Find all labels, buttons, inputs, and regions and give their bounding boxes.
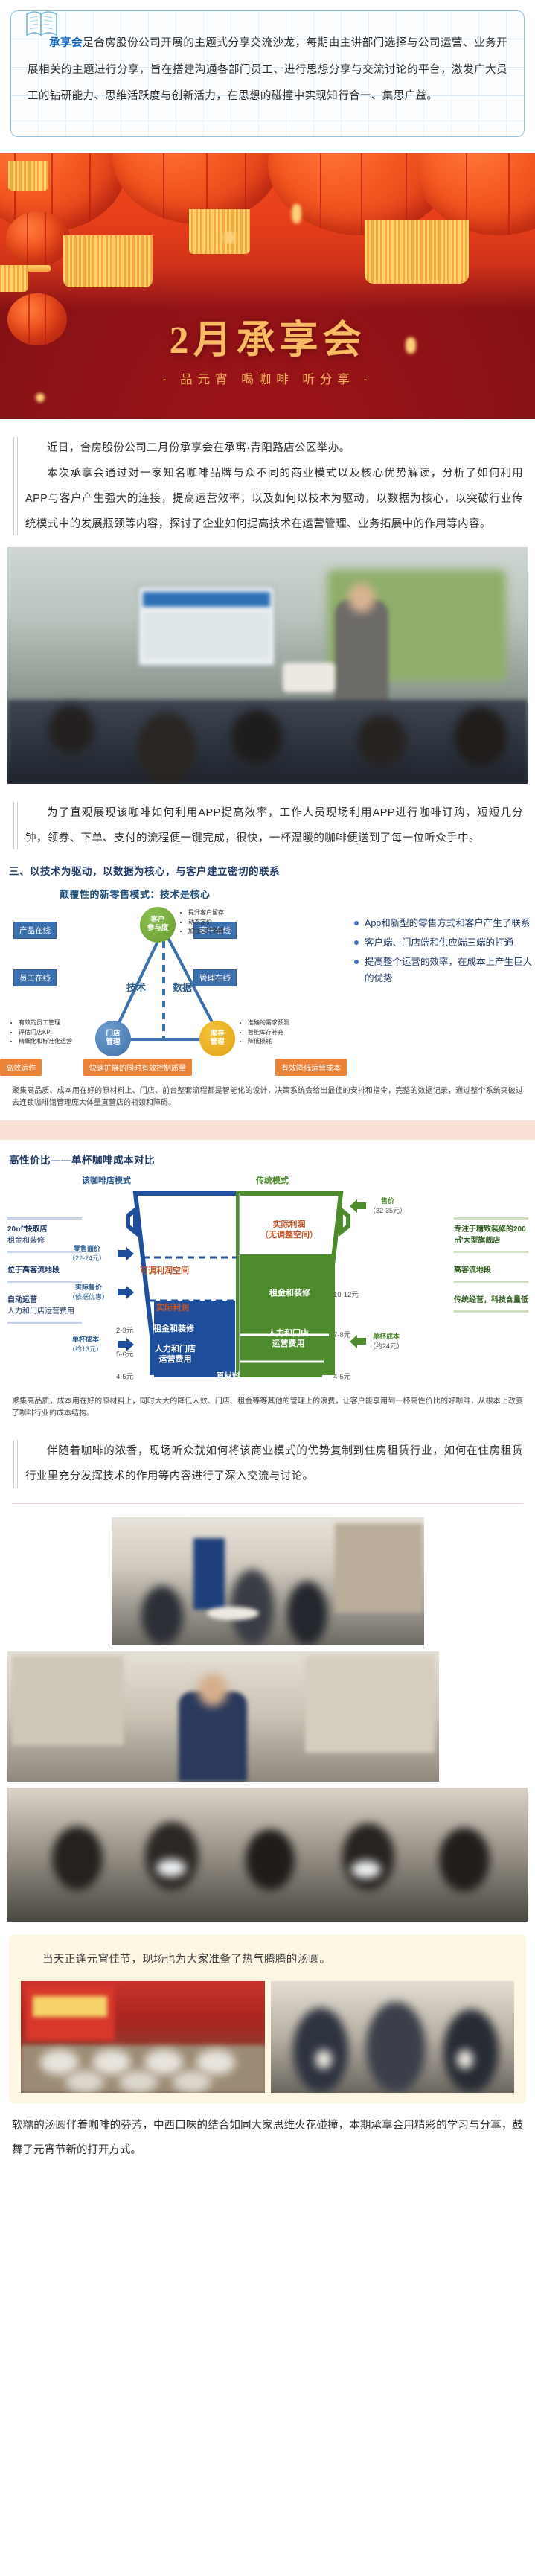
side-card-right: 专注于精致装修的200㎡'大型旗舰店 高客流地段 传统经营，科技含量低 xyxy=(454,1217,528,1313)
box-management-online: 管理在线 xyxy=(193,969,237,986)
arrow-green-1 xyxy=(350,1199,366,1213)
note-unit-cost-left: 单杯成本 （约13元） xyxy=(68,1335,103,1354)
photo-person-1 xyxy=(141,1586,183,1645)
photo-head-3 xyxy=(231,710,283,765)
photo-person-z xyxy=(443,2009,499,2093)
tick-left-material: 4-5元 xyxy=(116,1371,133,1381)
side-left-sub-3: 人力和门店运营费用 xyxy=(7,1307,74,1316)
section1-text-block: 近日，合房股份公司二月份承享会在承寓·青阳路店公区举办。 本次承享会通过对一家知… xyxy=(12,436,523,537)
slide-cost-comparison: 高性价比——单杯咖啡成本对比 该咖啡店模式 传统模式 可调利润空间 实际利润 租… xyxy=(7,1152,528,1419)
intro-card: 承享会是合房股份公司开展的主题式分享交流沙龙，每期由主讲部门选择与公司运营、业务… xyxy=(10,10,525,137)
list-item: App和新型的零售方式和客户产生了联系 xyxy=(354,916,535,932)
tag-lower-cost: 有效降低运营成本 xyxy=(275,1059,347,1076)
photo-bowl-3 xyxy=(144,2050,183,2075)
photo-head-e xyxy=(439,1828,490,1892)
photo-bowl-4 xyxy=(196,2050,235,2075)
note-value: （32-35元） xyxy=(369,1207,406,1214)
box-product-online: 产品在线 xyxy=(13,922,57,939)
tassel-3 xyxy=(63,235,153,287)
side-card-left: 20㎡'快取店 租金和装修 位于高客流地段 自动运营 人力和门店运营费用 xyxy=(7,1217,82,1324)
photo-poster-text xyxy=(33,1996,107,2017)
list-item: 客户端、门店端和供应端三端的打通 xyxy=(354,935,535,951)
tick-right-material: 4-5元 xyxy=(333,1371,350,1381)
closing-card: 当天正逢元宵佳节，现场也为大家准备了热气腾腾的汤圆。 xyxy=(9,1935,526,2103)
side-left-title-1: 20㎡'快取店 xyxy=(7,1225,48,1234)
note-unit-cost-right: 单杯成本 （约24元） xyxy=(369,1332,403,1351)
photo-shelf-right xyxy=(305,1656,435,1753)
photo-bowl-7 xyxy=(173,2070,211,2093)
pink-divider-line xyxy=(12,1503,523,1504)
arrow-blue-2 xyxy=(118,1286,134,1299)
speaker-standing-photo xyxy=(7,1651,439,1782)
list-item: 提高整个运营的效率，在成本上产生巨大的优势 xyxy=(354,954,535,987)
note-title: 单杯成本 xyxy=(72,1336,99,1343)
sparkle-1 xyxy=(223,232,235,243)
tag-efficient-operation: 高效运作 xyxy=(0,1059,42,1076)
list-item: 降低损耗 xyxy=(248,1037,289,1046)
photo-screen-body xyxy=(143,611,270,660)
note-selling-price: 售价 （32-35元） xyxy=(369,1196,406,1215)
tick-left-rent: 2-3元 xyxy=(116,1324,133,1335)
lantern-cap xyxy=(25,265,51,272)
photo-cup-1 xyxy=(315,2050,332,2069)
section1-paragraph-1: 近日，合房股份公司二月份承享会在承寓·青阳路店公区举办。 xyxy=(25,436,523,461)
closing-tail-paragraph: 软糯的汤圆伴着咖啡的芬芳，中西口味的结合如同大家思维火花碰撞，本期承享会用精彩的… xyxy=(12,2114,523,2164)
seg-left-rent-decor: 租金和装修 xyxy=(153,1324,194,1335)
attendees-holding-cups-photo xyxy=(271,1981,515,2093)
list-item: 提升客户留存 xyxy=(188,908,224,917)
edge-label-technology: 技术 xyxy=(126,980,146,994)
section2-paragraph-1: 为了直观展现该咖啡如何利用APP提高效率，工作人员现场利用APP进行咖啡订购，短… xyxy=(25,800,523,851)
section1-paragraph-2: 本次承享会通过对一家知名咖啡品牌与众不同的商业模式以及核心优势解读，分析了如何利… xyxy=(25,461,523,537)
slide1-title: 颠覆性的新零售模式：技术是核心 xyxy=(60,887,528,901)
tassel-5 xyxy=(365,220,469,284)
tag-scale-quality: 快速扩展的同时有效控制质量 xyxy=(83,1059,192,1076)
note-value: （约24元） xyxy=(369,1342,403,1350)
closing-paragraph-1: 当天正逢元宵佳节，现场也为大家准备了热气腾腾的汤圆。 xyxy=(21,1947,514,1972)
section3-paragraph-1: 伴随着咖啡的浓香，现场听众就如何将该商业模式的优势复制到住房租赁行业，如何在住房… xyxy=(25,1438,523,1489)
photo-head-5 xyxy=(454,707,507,767)
photo-shelf-left xyxy=(12,1656,124,1745)
photo-head-a xyxy=(52,1826,103,1890)
open-book-icon xyxy=(25,8,59,39)
photo-head-1 xyxy=(48,705,94,754)
list-item: 精细化和标准化运营 xyxy=(19,1037,72,1046)
photo-table-round xyxy=(207,1607,259,1620)
seg-left-adjustable-profit: 可调利润空间 xyxy=(140,1266,189,1277)
diagram-technology-core: 产品在线 员工在线 客户在线 管理在线 客户参与度 门店管理 库存管理 提升客户… xyxy=(7,905,528,1083)
label-this-coffee-mode: 该咖啡店模式 xyxy=(82,1174,131,1186)
list-inventory-management: 准确的需求预测 智能库存补充 降低损耗 xyxy=(241,1018,289,1046)
arrow-blue-1 xyxy=(118,1247,134,1260)
label-traditional-mode: 传统模式 xyxy=(256,1174,289,1186)
slide1-right-bullets: App和新型的零售方式和客户产生了联系 客户端、门店端和供应端三端的打通 提高整… xyxy=(354,916,535,990)
side-right-title-2: 高客流地段 xyxy=(454,1266,491,1275)
sparkle-2 xyxy=(292,204,301,223)
photo-head-d xyxy=(342,1823,394,1890)
poster-title: 2月承享会 xyxy=(0,308,535,364)
sparkle-4 xyxy=(36,393,45,402)
box-employee-online: 员工在线 xyxy=(13,969,57,986)
diagram-cup-cost: 该咖啡店模式 传统模式 可调利润空间 实际利润 租金和装修 人力和门店运营费用 … xyxy=(7,1170,528,1393)
event-poster: 2月承享会 - 品元宵 喝咖啡 听分享 - xyxy=(0,153,535,419)
slide1-caption: 聚集高品质、成本用在好的原材料上、门店、前台整套流程都是智能化的设计，决策系统会… xyxy=(12,1085,523,1109)
note-title: 售价 xyxy=(381,1197,394,1205)
photo-bowl-2 xyxy=(92,2050,131,2075)
section2-text-block: 为了直观展现该咖啡如何利用APP提高效率，工作人员现场利用APP进行咖啡订购，短… xyxy=(12,800,523,851)
seg-shared-raw-material: 原材料 xyxy=(216,1372,240,1383)
tick-right-rent: 10-12元 xyxy=(333,1289,359,1299)
photo-table xyxy=(283,663,335,692)
side-left-title-3: 自动运营 xyxy=(7,1296,37,1304)
photo-person-3 xyxy=(287,1581,327,1645)
note-title: 单杯成本 xyxy=(373,1333,400,1340)
slide-new-retail-model: 三、以技术为驱动，以数据为核心，与客户建立密切的联系 颠覆性的新零售模式：技术是… xyxy=(7,863,528,1109)
section3-text-block: 伴随着咖啡的浓香，现场听众就如何将该商业模式的优势复制到住房租赁行业，如何在住房… xyxy=(12,1438,523,1489)
slide1-heading: 三、以技术为驱动，以数据为核心，与客户建立密切的联系 xyxy=(9,863,528,878)
tassel-1 xyxy=(8,161,48,191)
audience-masked-photo xyxy=(7,1788,528,1922)
photo-speaker xyxy=(335,599,388,711)
arrow-green-2 xyxy=(350,1335,366,1348)
tassel-4 xyxy=(189,209,250,254)
list-store-management: 有效的员工管理 评估门店KPI 精细化和标准化运营 xyxy=(12,1018,72,1046)
photo-banner xyxy=(193,1538,225,1610)
photo-speaker-head-2 xyxy=(198,1674,228,1706)
photo-screen-content xyxy=(143,592,270,607)
side-right-title-1: 专注于精致装修的200㎡'大型旗舰店 xyxy=(454,1225,526,1245)
list-item: 加强交叉销售 xyxy=(188,927,224,936)
photo-head-c xyxy=(246,1829,295,1890)
note-value: （约13元） xyxy=(68,1345,103,1353)
seg-left-labor-store: 人力和门店运营费用 xyxy=(155,1345,196,1365)
list-customer-engagement: 提升客户留存 动态定价 加强交叉销售 xyxy=(182,908,224,936)
photo-speaker-head xyxy=(348,583,375,613)
intro-paragraph: 承享会是合房股份公司开展的主题式分享交流沙龙，每期由主讲部门选择与公司运营、业务… xyxy=(28,31,507,110)
intro-section: 承享会是合房股份公司开展的主题式分享交流沙龙，每期由主讲部门选择与公司运营、业务… xyxy=(0,0,535,153)
photo-mask-1 xyxy=(156,1859,186,1877)
tassel-2 xyxy=(0,265,28,292)
side-right-title-3: 传统经营，科技含量低 xyxy=(454,1296,528,1304)
tangyuan-bowls-photo xyxy=(21,1981,265,2093)
photo-person-y xyxy=(366,2002,426,2093)
seg-right-labor-store: 人力和门店运营费用 xyxy=(268,1329,309,1350)
node-store-management-label: 门店管理 xyxy=(106,1030,120,1047)
photo-head-2 xyxy=(138,712,196,784)
tick-left-labor: 5-6元 xyxy=(116,1348,133,1359)
lantern-small-left xyxy=(6,211,70,267)
node-customer-engagement-label: 客户参与度 xyxy=(147,916,169,933)
slide2-caption: 聚集高品质，成本用在好的原材料上，同时大大的降低人效、门店、租金等等其他的管理上… xyxy=(12,1396,523,1419)
list-item: 准确的需求预测 xyxy=(248,1018,289,1027)
photo-bowl-5 xyxy=(65,2070,104,2093)
list-item: 有效的员工管理 xyxy=(19,1018,72,1027)
tick-right-labor: 7-8元 xyxy=(333,1329,350,1339)
photo-head-4 xyxy=(357,715,406,767)
intro-body: 是合房股份公司开展的主题式分享交流沙龙，每期由主讲部门选择与公司运营、业务开展相… xyxy=(28,37,507,102)
seg-right-rent-decor: 租金和装修 xyxy=(269,1289,310,1299)
photo-shelf xyxy=(335,1523,423,1613)
list-item: 评估门店KPI xyxy=(19,1028,72,1037)
side-left-sub-1: 租金和装修 xyxy=(7,1237,45,1245)
seg-right-actual-profit: 实际利润（无调整空间） xyxy=(260,1220,318,1241)
audience-seated-photo xyxy=(112,1517,424,1645)
slide2-title: 高性价比——单杯咖啡成本对比 xyxy=(9,1152,528,1167)
photo-mask-2 xyxy=(351,1861,381,1878)
pink-divider-band xyxy=(0,1120,535,1140)
list-item: 智能库存补充 xyxy=(248,1028,289,1037)
presentation-room-photo xyxy=(7,547,528,784)
poster-subtitle: - 品元宵 喝咖啡 听分享 - xyxy=(0,369,535,387)
side-left-title-2: 位于高客流地段 xyxy=(7,1266,60,1275)
photo-bowl-6 xyxy=(119,2070,158,2093)
photo-cup-2 xyxy=(457,2050,473,2069)
edge-label-data: 数据 xyxy=(173,980,192,994)
seg-left-actual-profit: 实际利润 xyxy=(156,1304,189,1314)
photo-head-b xyxy=(145,1822,199,1890)
list-item: 动态定价 xyxy=(188,918,224,927)
node-inventory-management-label: 库存管理 xyxy=(210,1030,224,1047)
photo-bowl-1 xyxy=(40,2050,79,2075)
